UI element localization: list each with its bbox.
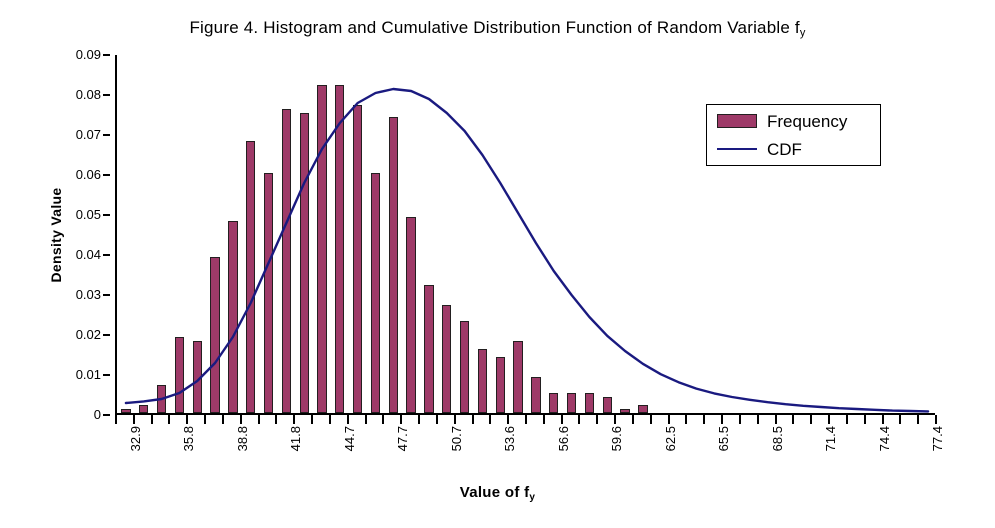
histogram-bar <box>157 385 166 413</box>
x-axis-tick-mark <box>739 415 741 424</box>
histogram-bar <box>371 173 380 413</box>
x-axis-tick-mark <box>222 415 224 424</box>
x-axis-tick-label: 53.6 <box>503 426 516 451</box>
x-axis-tick-label: 68.5 <box>771 426 784 451</box>
x-axis-tick-mark <box>632 415 634 424</box>
histogram-bar <box>496 357 505 413</box>
x-axis-tick-mark <box>578 415 580 424</box>
x-axis-tick-mark <box>472 415 474 424</box>
histogram-bar <box>442 305 451 413</box>
x-axis-tick-mark <box>543 415 545 424</box>
histogram-bar <box>193 341 202 413</box>
x-axis-tick-mark <box>561 415 563 424</box>
x-axis-tick-mark <box>204 415 206 424</box>
x-axis-tick-mark <box>365 415 367 424</box>
x-axis-tick-mark <box>917 415 919 424</box>
y-axis-tick-labels: 0.090.080.070.060.050.040.030.020.010 <box>0 55 110 415</box>
x-axis-tick-label: 32.9 <box>129 426 142 451</box>
histogram-bar <box>531 377 540 413</box>
histogram-bar <box>317 85 326 413</box>
x-axis-tick-mark <box>133 415 135 424</box>
x-axis-tick-mark <box>275 415 277 424</box>
x-axis-tick-label: 47.7 <box>396 426 409 451</box>
histogram-bar <box>175 337 184 413</box>
x-axis-tick-mark <box>489 415 491 424</box>
y-axis-tick-mark <box>103 374 110 376</box>
histogram-bar <box>282 109 291 413</box>
x-axis-tick-mark <box>258 415 260 424</box>
x-axis-tick-label: 65.5 <box>717 426 730 451</box>
x-axis-tick-mark <box>168 415 170 424</box>
x-axis-tick-mark <box>329 415 331 424</box>
x-axis-tick-mark <box>828 415 830 424</box>
x-axis-tick-label: 59.6 <box>610 426 623 451</box>
legend-item-cdf: CDF <box>717 137 880 161</box>
histogram-bar <box>478 349 487 413</box>
x-axis-tick-mark <box>614 415 616 424</box>
x-axis-tick-mark <box>668 415 670 424</box>
histogram-bar <box>353 105 362 413</box>
x-axis-ticks <box>115 415 935 425</box>
x-axis-tick-mark <box>436 415 438 424</box>
x-axis-tick-mark <box>596 415 598 424</box>
x-axis-title-subscript: y <box>529 492 535 503</box>
x-axis-tick-mark <box>775 415 777 424</box>
histogram-bar <box>139 405 148 413</box>
x-axis-tick-mark <box>846 415 848 424</box>
x-axis-tick-label: 62.5 <box>664 426 677 451</box>
chart-title-subscript: y <box>800 27 806 39</box>
histogram-bar <box>300 113 309 413</box>
y-axis-tick-mark <box>103 134 110 136</box>
y-axis-tick-mark <box>103 94 110 96</box>
x-axis-tick-label: 41.8 <box>289 426 302 451</box>
y-axis-tick-mark <box>103 334 110 336</box>
x-axis-tick-mark <box>899 415 901 424</box>
x-axis-tick-mark <box>757 415 759 424</box>
chart-title: Figure 4. Histogram and Cumulative Distr… <box>0 18 995 39</box>
y-axis-tick-mark <box>103 54 110 56</box>
figure-4-chart: Figure 4. Histogram and Cumulative Distr… <box>0 0 995 528</box>
y-axis-tick-mark <box>103 214 110 216</box>
x-axis-tick-mark <box>703 415 705 424</box>
histogram-bar <box>210 257 219 413</box>
x-axis-tick-label: 35.8 <box>182 426 195 451</box>
histogram-bar <box>567 393 576 413</box>
x-axis-tick-mark <box>382 415 384 424</box>
x-axis-tick-mark <box>810 415 812 424</box>
x-axis-tick-mark <box>454 415 456 424</box>
x-axis-tick-mark <box>186 415 188 424</box>
x-axis-tick-mark <box>525 415 527 424</box>
histogram-bar <box>585 393 594 413</box>
x-axis-tick-mark <box>151 415 153 424</box>
chart-legend: Frequency CDF <box>706 104 881 166</box>
x-axis-tick-label: 71.4 <box>824 426 837 451</box>
histogram-bar <box>246 141 255 413</box>
x-axis-tick-mark <box>115 415 117 424</box>
histogram-bar <box>513 341 522 413</box>
histogram-bar <box>603 397 612 413</box>
legend-item-frequency: Frequency <box>717 109 880 133</box>
x-axis-tick-label: 56.6 <box>557 426 570 451</box>
histogram-bar <box>549 393 558 413</box>
histogram-bar <box>460 321 469 413</box>
x-axis-tick-label: 50.7 <box>450 426 463 451</box>
x-axis-tick-label: 38.8 <box>236 426 249 451</box>
legend-label-frequency: Frequency <box>767 113 847 130</box>
y-axis-tick-mark <box>103 174 110 176</box>
histogram-bar <box>121 409 130 413</box>
y-axis-tick-mark <box>103 294 110 296</box>
legend-swatch-frequency <box>717 114 757 128</box>
x-axis-tick-mark <box>882 415 884 424</box>
x-axis-tick-mark <box>792 415 794 424</box>
x-axis-tick-mark <box>935 415 937 424</box>
x-axis-tick-mark <box>400 415 402 424</box>
histogram-bar <box>264 173 273 413</box>
histogram-bar <box>335 85 344 413</box>
x-axis-tick-label: 77.4 <box>931 426 944 451</box>
y-axis-tick-mark <box>103 254 110 256</box>
x-axis-tick-mark <box>721 415 723 424</box>
x-axis-tick-labels: 32.935.838.841.844.747.750.753.656.659.6… <box>115 426 935 481</box>
legend-swatch-cdf <box>717 148 757 150</box>
histogram-bar <box>620 409 629 413</box>
histogram-bar <box>424 285 433 413</box>
x-axis-tick-mark <box>864 415 866 424</box>
x-axis-tick-mark <box>418 415 420 424</box>
x-axis-title: Value of fy <box>0 484 995 503</box>
histogram-bar <box>638 405 647 413</box>
x-axis-title-text: Value of f <box>460 484 530 501</box>
x-axis-tick-label: 74.4 <box>878 426 891 451</box>
legend-label-cdf: CDF <box>767 141 802 158</box>
x-axis-tick-mark <box>507 415 509 424</box>
histogram-bar <box>406 217 415 413</box>
x-axis-tick-mark <box>685 415 687 424</box>
histogram-bar <box>389 117 398 413</box>
y-axis-tick-mark <box>103 414 110 416</box>
x-axis-tick-label: 44.7 <box>343 426 356 451</box>
x-axis-tick-mark <box>240 415 242 424</box>
x-axis-tick-mark <box>347 415 349 424</box>
x-axis-tick-mark <box>311 415 313 424</box>
x-axis-tick-mark <box>650 415 652 424</box>
x-axis-tick-mark <box>293 415 295 424</box>
chart-title-text: Figure 4. Histogram and Cumulative Distr… <box>189 18 799 37</box>
histogram-bar <box>228 221 237 413</box>
